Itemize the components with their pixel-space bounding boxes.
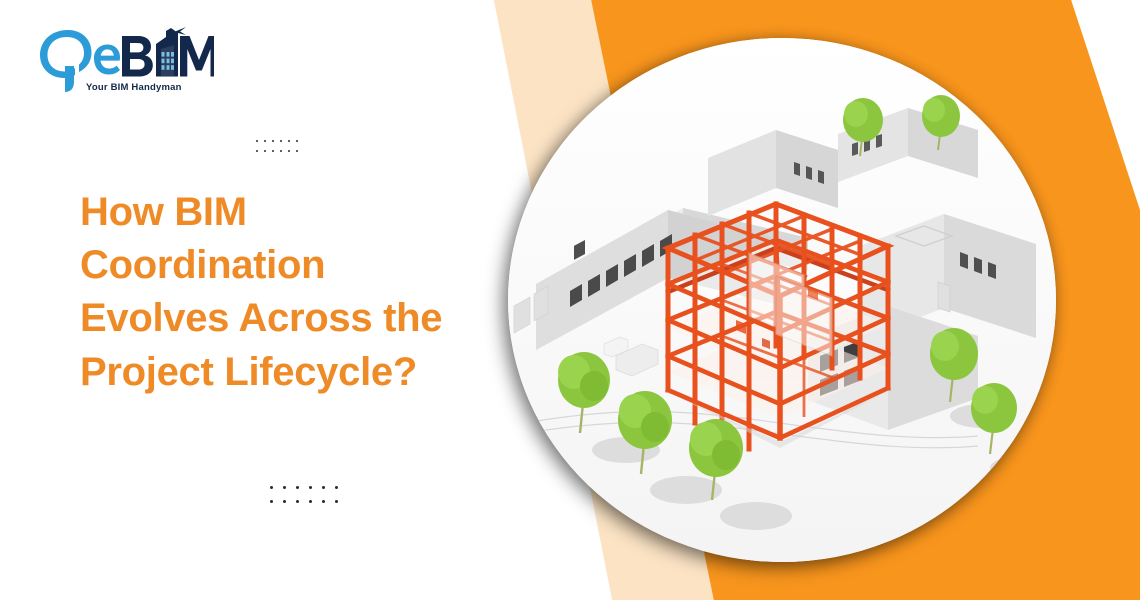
poster-canvas: Your BIM Handyman How BIM Coordination E… xyxy=(0,0,1140,600)
logo-m-letter xyxy=(180,36,214,77)
dot-grid-top xyxy=(256,140,304,160)
logo-b-letter xyxy=(122,36,153,77)
logo-e-letter xyxy=(94,45,120,75)
dot-grid-bottom xyxy=(270,486,348,514)
logo-q-icon xyxy=(40,30,92,92)
hero-circle-image xyxy=(508,38,1056,562)
qebim-logo[interactable]: Your BIM Handyman xyxy=(34,22,214,98)
logo-tagline: Your BIM Handyman xyxy=(86,82,182,93)
page-title: How BIM Coordination Evolves Across the … xyxy=(80,186,450,399)
